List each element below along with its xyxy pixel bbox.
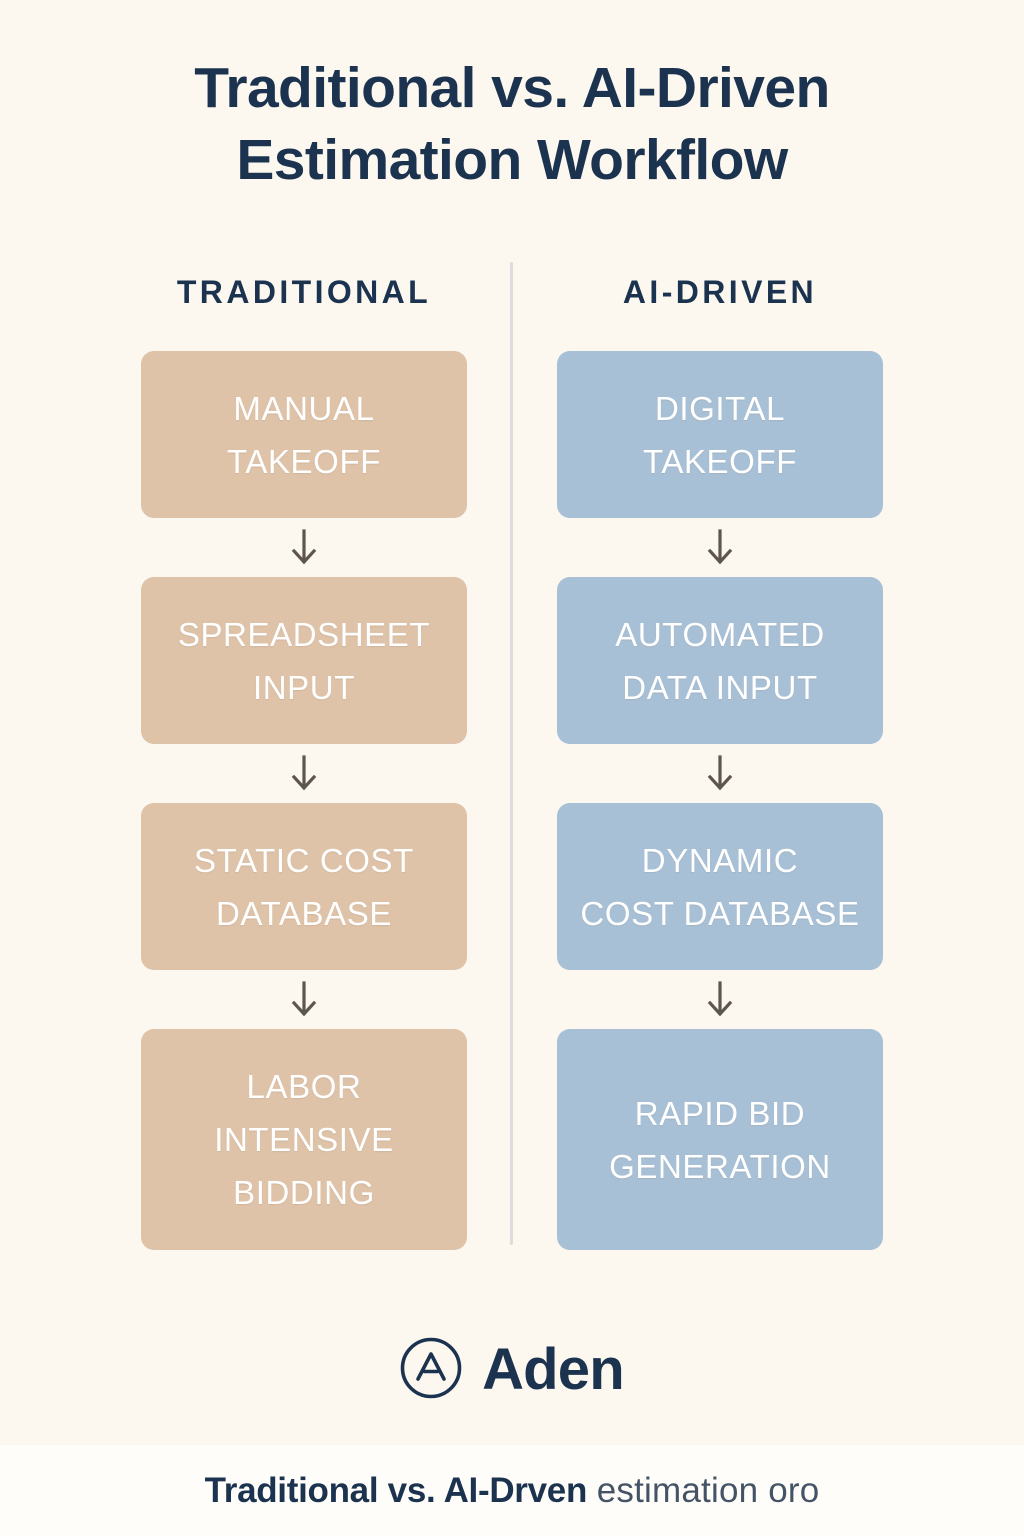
flow-node-spreadsheet-input[interactable]: SPREADSHEET INPUT [141,577,467,744]
flow-node-label: MANUAL TAKEOFF [227,382,381,488]
flow-column-ai-driven: DIGITAL TAKEOFF AUTOMATED DATA INPUT DYN… [557,351,883,1250]
down-arrow-icon [141,744,467,803]
flow-node-labor-intensive-bidding[interactable]: LABOR INTENSIVE BIDDING [141,1029,467,1250]
flow-column-traditional: MANUAL TAKEOFF SPREADSHEET INPUT STATIC … [141,351,467,1250]
column-header-ai-driven: AI-DRIVEN [557,272,883,312]
flow-node-label: STATIC COST DATABASE [194,834,414,940]
caption-soft: estimation oro [597,1471,820,1510]
flow-node-label: SPREADSHEET INPUT [178,608,430,714]
circled-a-logo-icon [400,1337,462,1404]
flow-node-dynamic-cost-database[interactable]: DYNAMIC COST DATABASE [557,803,883,970]
down-arrow-icon [557,744,883,803]
flow-node-rapid-bid-generation[interactable]: RAPID BID GENERATION [557,1029,883,1250]
flow-node-label: RAPID BID GENERATION [609,1087,831,1193]
down-arrow-icon [557,970,883,1029]
brand-name: Aden [482,1339,624,1401]
flow-node-label: DIGITAL TAKEOFF [643,382,797,488]
column-divider [510,262,513,1245]
down-arrow-icon [141,518,467,577]
page-title: Traditional vs. AI-Driven Estimation Wor… [0,52,1024,196]
page-title-line-1: Traditional vs. AI-Driven [0,52,1024,124]
caption-text: Traditional vs. AI-Drven estimation oro [205,1469,820,1513]
infographic-poster: Traditional vs. AI-Driven Estimation Wor… [0,0,1024,1445]
flow-node-digital-takeoff[interactable]: DIGITAL TAKEOFF [557,351,883,518]
down-arrow-icon [557,518,883,577]
column-header-traditional: TRADITIONAL [141,272,467,312]
down-arrow-icon [141,970,467,1029]
flow-node-label: AUTOMATED DATA INPUT [615,608,825,714]
brand-lockup: Aden [0,1325,1024,1415]
flow-node-manual-takeoff[interactable]: MANUAL TAKEOFF [141,351,467,518]
flow-node-automated-data-input[interactable]: AUTOMATED DATA INPUT [557,577,883,744]
page-title-line-2: Estimation Workflow [0,124,1024,196]
flow-node-label: LABOR INTENSIVE BIDDING [214,1060,394,1219]
caption-band: Traditional vs. AI-Drven estimation oro [0,1445,1024,1536]
flow-node-label: DYNAMIC COST DATABASE [580,834,859,940]
flow-node-static-cost-database[interactable]: STATIC COST DATABASE [141,803,467,970]
caption-strong: Traditional vs. AI-Drven [205,1471,587,1510]
